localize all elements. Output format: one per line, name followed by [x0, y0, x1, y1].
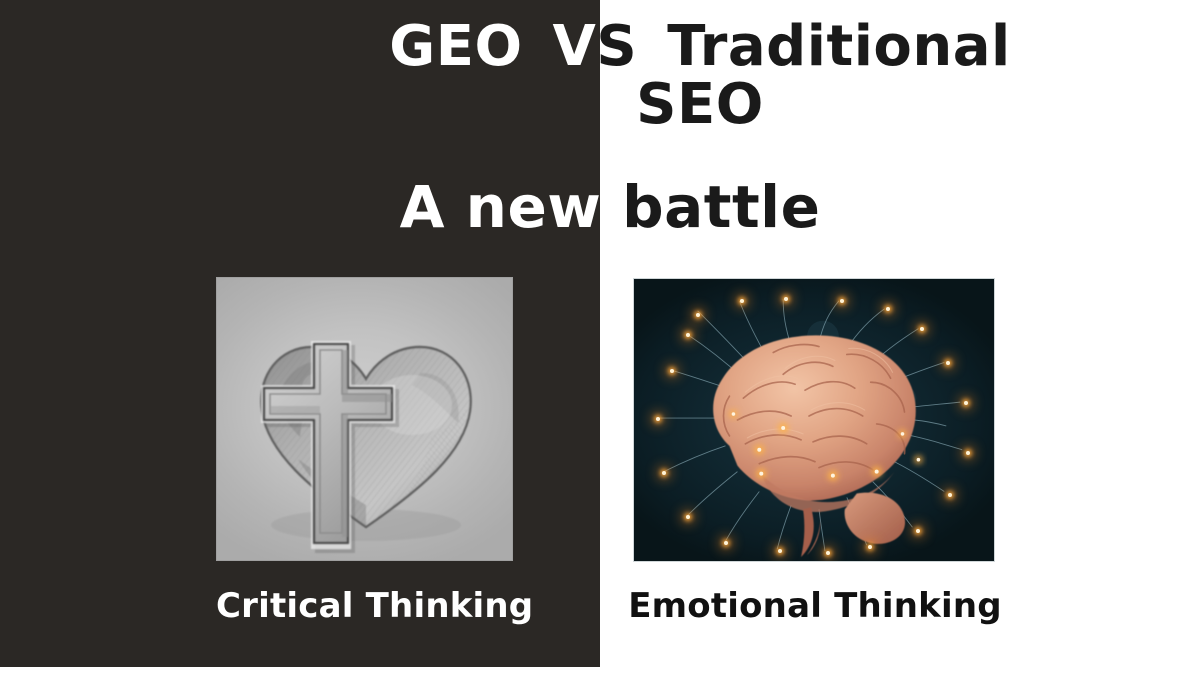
- left-caption: Critical Thinking: [216, 586, 516, 626]
- right-caption: Emotional Thinking: [628, 586, 1002, 626]
- neuron-spark: [724, 541, 728, 545]
- neuron-spark: [948, 493, 952, 497]
- neuron-spark: [920, 327, 924, 331]
- emotional-thinking-image: [633, 278, 995, 562]
- cross-heart-sketch-icon: [216, 277, 513, 561]
- neuron-spark: [916, 529, 920, 533]
- neuron-spark: [662, 471, 666, 475]
- neuron-spark: [656, 417, 660, 421]
- neuron-spark: [946, 361, 950, 365]
- neuron-spark: [778, 549, 782, 553]
- neuron-spark: [826, 551, 830, 555]
- neuron-spark: [964, 401, 968, 405]
- neuron-spark: [784, 297, 788, 301]
- neuron-spark: [966, 451, 970, 455]
- neuron-spark: [840, 299, 844, 303]
- neuron-spark: [886, 307, 890, 311]
- neuron-spark: [740, 299, 744, 303]
- neuron-spark: [686, 333, 690, 337]
- neuron-spark: [868, 545, 872, 549]
- neuron-spark: [686, 515, 690, 519]
- neuron-spark: [696, 313, 700, 317]
- neuron-spark: [670, 369, 674, 373]
- slide-canvas: GEO VS Traditional SEO A new battle GEO …: [0, 0, 1200, 675]
- critical-thinking-image: [216, 277, 513, 561]
